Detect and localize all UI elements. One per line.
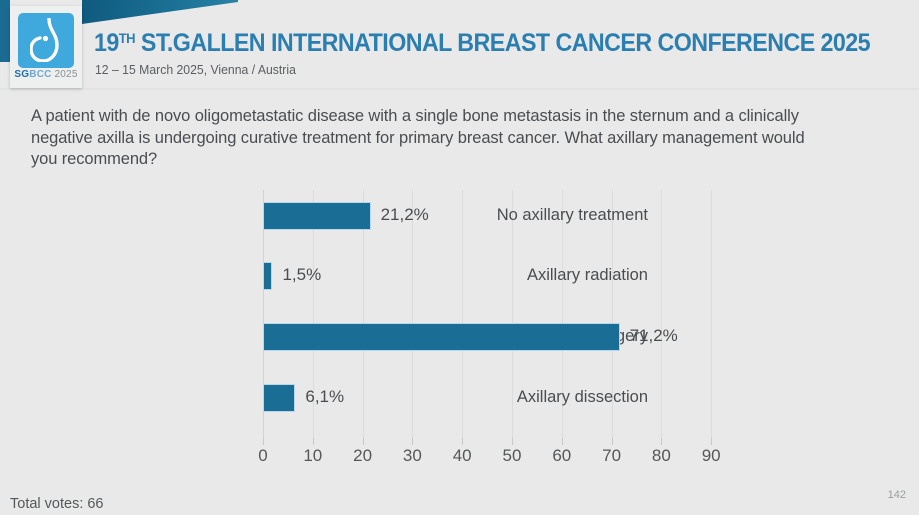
chart-bar	[263, 323, 620, 351]
slide-number: 142	[888, 489, 906, 501]
chart-tick-label-40: 40	[442, 446, 482, 466]
chart-bar-row: Axillary dissection6,1%	[0, 384, 919, 444]
chart-bar-value: 71,2%	[630, 323, 678, 349]
chart-bar-row: Axillary radiation1,5%	[0, 262, 919, 322]
chart-bar	[263, 262, 272, 290]
conference-title: 19TH ST.GALLEN INTERNATIONAL BREAST CANC…	[94, 29, 870, 58]
poll-results-bar-chart: 0102030405060708090 No axillary treatmen…	[0, 190, 919, 470]
slide-canvas: SGBCC 2025 19TH ST.GALLEN INTERNATIONAL …	[0, 0, 919, 515]
logo-caption-bcc: BCC	[29, 69, 51, 80]
chart-bar-row: No axillary treatment21,2%	[0, 202, 919, 262]
chart-tick-label-70: 70	[592, 446, 632, 466]
chart-bar-value: 1,5%	[282, 262, 321, 288]
chart-tick-label-80: 80	[641, 446, 681, 466]
chart-bar	[263, 384, 295, 412]
logo-caption-sg: SG	[14, 69, 29, 80]
header-diagonal-band	[82, 0, 238, 24]
conference-logo: SGBCC 2025	[10, 6, 82, 88]
chart-tick-label-60: 60	[542, 446, 582, 466]
chart-bar	[263, 202, 371, 230]
header-divider	[0, 88, 919, 90]
chart-tick-label-10: 10	[293, 446, 333, 466]
logo-caption-year: 2025	[55, 69, 78, 80]
total-votes-label: Total votes: 66	[10, 496, 104, 512]
logo-caption: SGBCC 2025	[10, 69, 82, 80]
breast-drop-glyph	[30, 18, 60, 62]
chart-tick-label-50: 50	[492, 446, 532, 466]
sgbcc-logo-icon	[18, 13, 74, 68]
chart-tick-label-0: 0	[243, 446, 283, 466]
chart-tick-label-20: 20	[343, 446, 383, 466]
chart-bar-value: 6,1%	[305, 384, 344, 410]
title-ordinal-suffix: TH	[119, 30, 135, 46]
poll-question: A patient with de novo oligometastatic d…	[31, 106, 806, 171]
title-ordinal: 19	[94, 29, 119, 57]
title-main: ST.GALLEN INTERNATIONAL BREAST CANCER CO…	[135, 29, 870, 57]
chart-bar-value: 21,2%	[381, 202, 429, 228]
header-edge-strip	[0, 0, 10, 62]
chart-bar-row: Sentinel lymph node surgery71,2%	[0, 323, 919, 383]
chart-tick-label-90: 90	[691, 446, 731, 466]
chart-tick-label-30: 30	[392, 446, 432, 466]
conference-subtitle: 12 – 15 March 2025, Vienna / Austria	[95, 62, 296, 77]
